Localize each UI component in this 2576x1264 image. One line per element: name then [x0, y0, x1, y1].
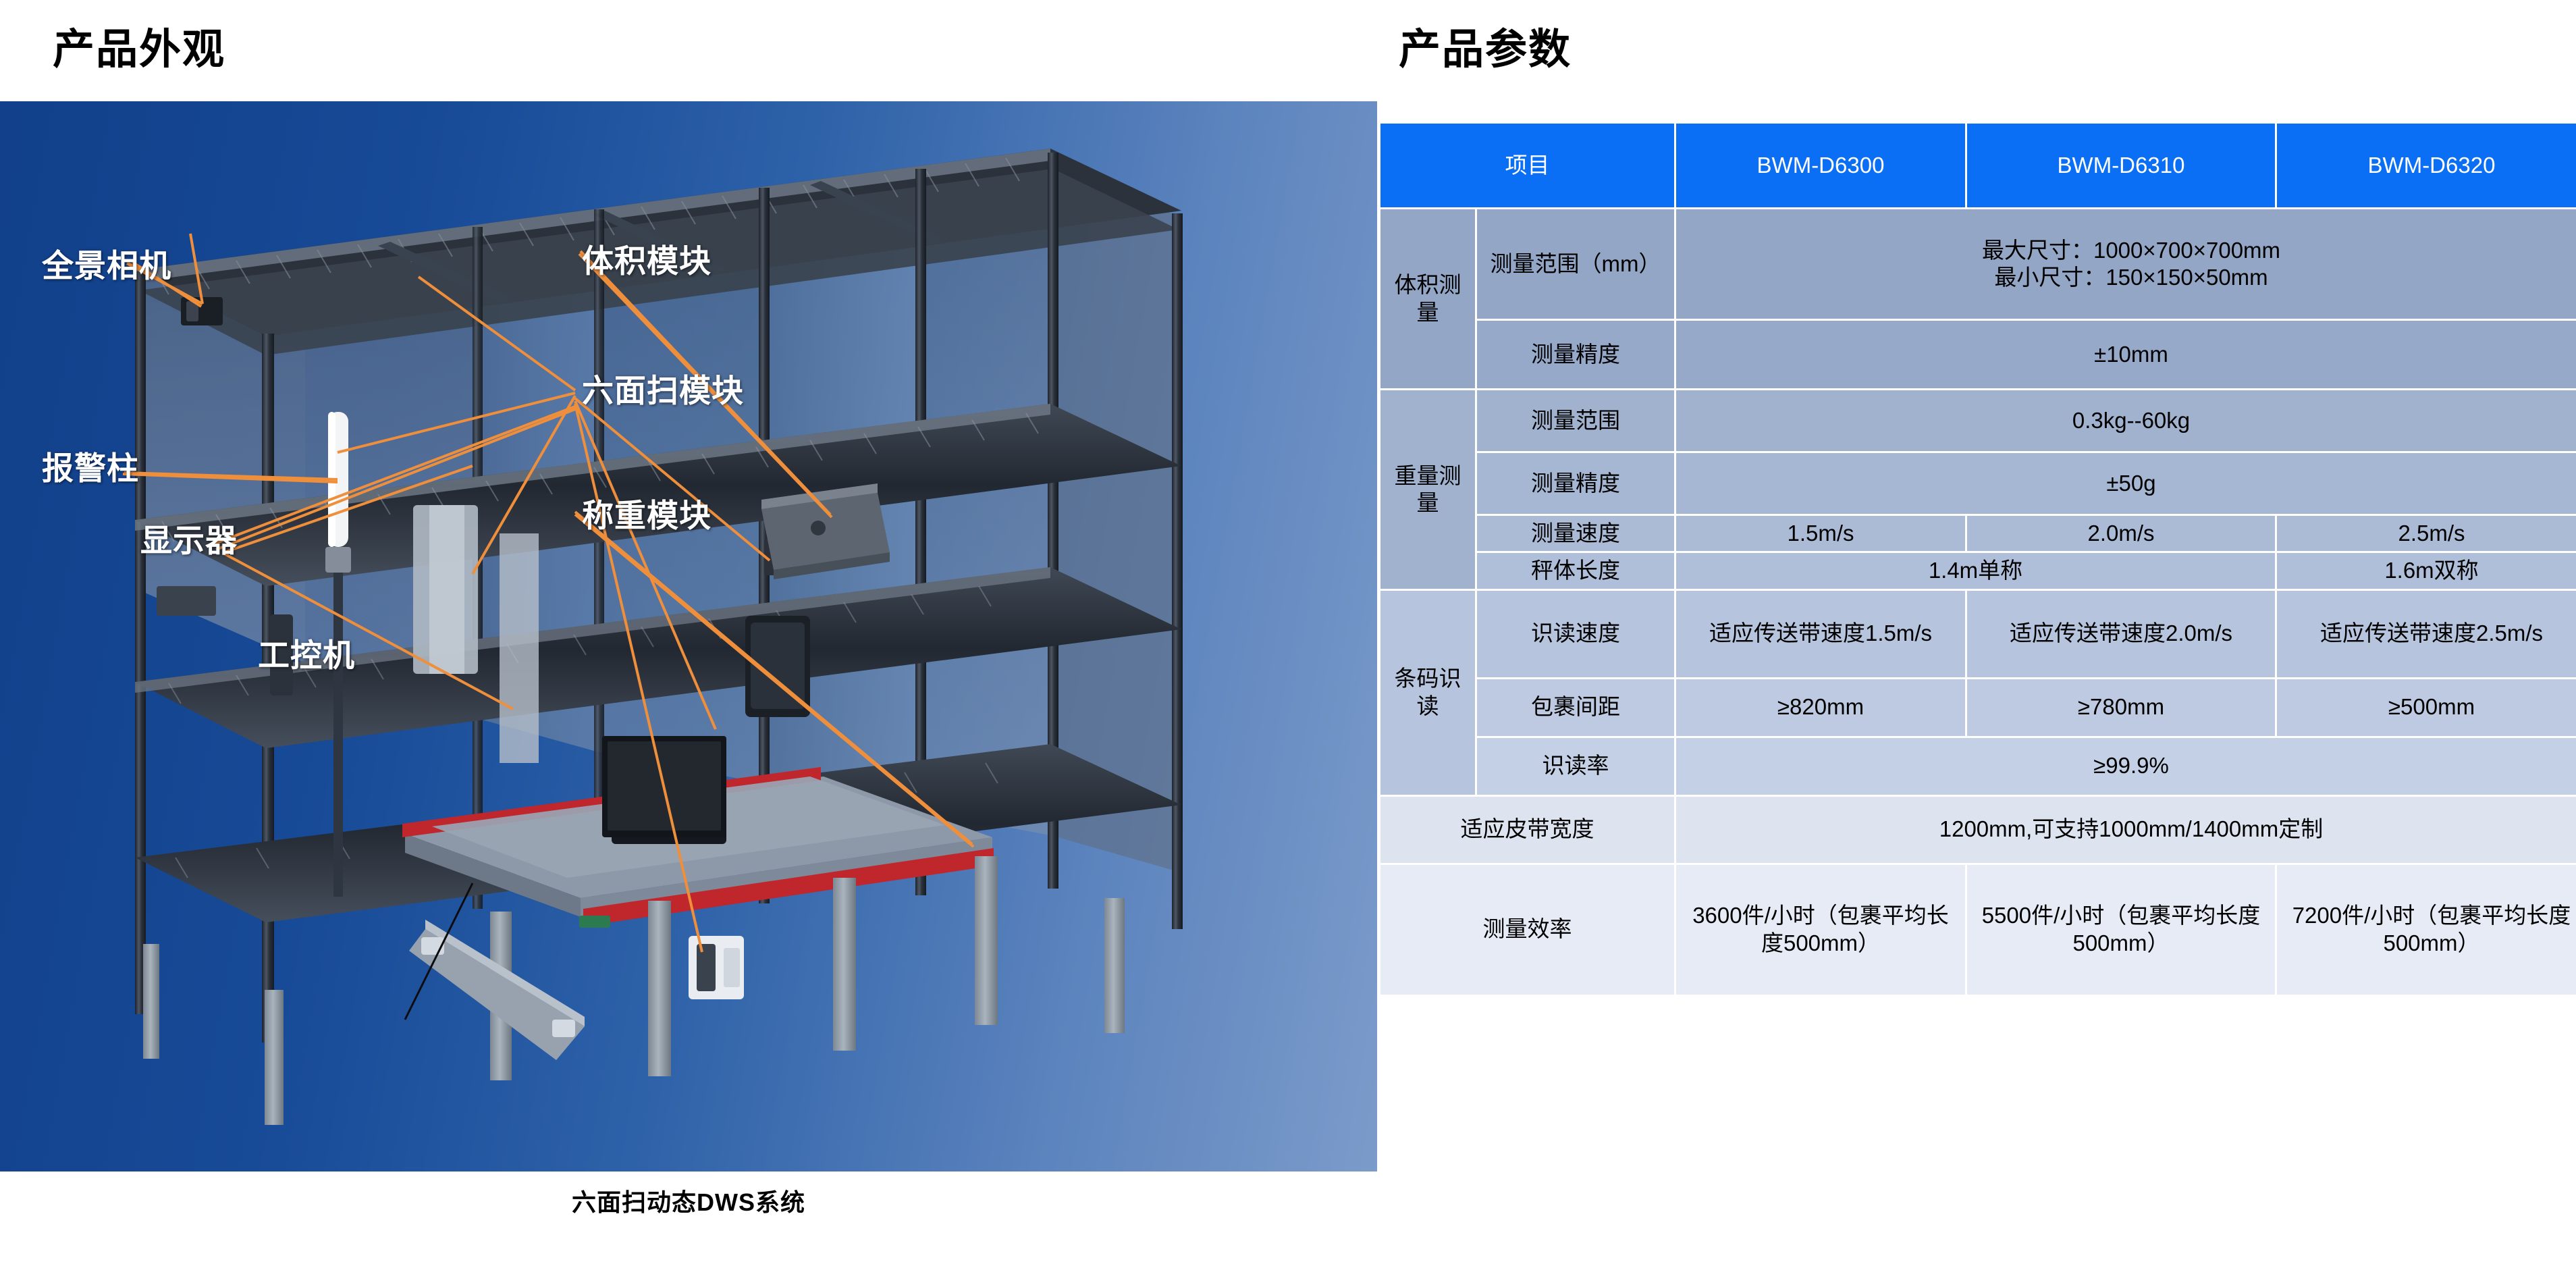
value-weight-speed-d6320: 2.5m/s	[2277, 516, 2576, 551]
product-appearance-panel: 全景相机 报警柱 显示器 工控机 体积模块 六面扫模块 称重模块	[0, 101, 1377, 1171]
value-parcel-gap-d6310: ≥780mm	[1967, 679, 2275, 736]
item-belt-width: 适应皮带宽度	[1380, 797, 1674, 863]
value-weight-accuracy: ±50g	[1676, 453, 2576, 514]
callout-alarm-pole: 报警柱	[42, 442, 139, 489]
callout-industrial-pc: 工控机	[258, 629, 355, 676]
value-weight-speed-d6310: 2.0m/s	[1967, 516, 2275, 551]
table-header-row: 项目 BWM-D6300 BWM-D6310 BWM-D6320	[1380, 124, 2576, 207]
callout-six-face-scan-module: 六面扫模块	[582, 365, 744, 411]
table-row: 条码识读 识读速度 适应传送带速度1.5m/s 适应传送带速度2.0m/s 适应…	[1380, 591, 2576, 677]
callout-weighing-module: 称重模块	[582, 490, 712, 536]
item-read-rate: 识读率	[1477, 738, 1674, 795]
callout-panoramic-camera: 全景相机	[42, 240, 171, 286]
page-title-product-parameters: 产品参数	[1399, 15, 1572, 76]
value-volume-range: 最大尺寸：1000×700×700mm 最小尺寸：150×150×50mm	[1676, 209, 2576, 319]
product-parameters-table: 项目 BWM-D6300 BWM-D6310 BWM-D6320 体积测量 测量…	[1378, 122, 2576, 997]
table-row: 测量精度 ±10mm	[1380, 321, 2576, 388]
value-belt-width: 1200mm,可支持1000mm/1400mm定制	[1676, 797, 2576, 863]
table-row: 秤体长度 1.4m单称 1.6m双称	[1380, 553, 2576, 588]
table-row: 测量精度 ±50g	[1380, 453, 2576, 514]
value-read-rate: ≥99.9%	[1676, 738, 2576, 795]
callout-volume-module: 体积模块	[582, 235, 712, 282]
value-parcel-gap-d6300: ≥820mm	[1676, 679, 1965, 736]
item-weight-speed: 测量速度	[1477, 516, 1674, 551]
pcb-board	[579, 916, 610, 928]
header-item: 项目	[1380, 124, 1674, 207]
header-bwm-d6320: BWM-D6320	[2277, 124, 2576, 207]
item-throughput: 测量效率	[1380, 865, 1674, 995]
table-row: 体积测量 测量范围（mm） 最大尺寸：1000×700×700mm 最小尺寸：1…	[1380, 209, 2576, 319]
table-row: 识读率 ≥99.9%	[1380, 738, 2576, 795]
value-read-speed-d6320: 适应传送带速度2.5m/s	[2277, 591, 2576, 677]
item-parcel-gap: 包裹间距	[1477, 679, 1674, 736]
value-scale-length-double: 1.6m双称	[2277, 553, 2576, 588]
item-read-speed: 识读速度	[1477, 591, 1674, 677]
value-weight-range: 0.3kg--60kg	[1676, 390, 2576, 451]
group-barcode-reading: 条码识读	[1380, 591, 1475, 795]
item-volume-range: 测量范围（mm）	[1477, 209, 1674, 319]
header-bwm-d6300: BWM-D6300	[1676, 124, 1965, 207]
figure-caption: 六面扫动态DWS系统	[0, 1183, 1377, 1218]
header-bwm-d6310: BWM-D6310	[1967, 124, 2275, 207]
item-scale-length: 秤体长度	[1477, 553, 1674, 588]
table-row: 包裹间距 ≥820mm ≥780mm ≥500mm	[1380, 679, 2576, 736]
value-read-speed-d6300: 适应传送带速度1.5m/s	[1676, 591, 1965, 677]
item-weight-accuracy: 测量精度	[1477, 453, 1674, 514]
bottom-barcode-scanner	[689, 936, 744, 999]
page-title-product-appearance: 产品外观	[53, 15, 225, 76]
value-throughput-d6320: 7200件/小时（包裹平均长度500mm）	[2277, 865, 2576, 995]
table-row: 测量效率 3600件/小时（包裹平均长度500mm） 5500件/小时（包裹平均…	[1380, 865, 2576, 995]
value-throughput-d6300: 3600件/小时（包裹平均长度500mm）	[1676, 865, 1965, 995]
table-row: 重量测量 测量范围 0.3kg--60kg	[1380, 390, 2576, 451]
value-parcel-gap-d6320: ≥500mm	[2277, 679, 2576, 736]
value-scale-length-single: 1.4m单称	[1676, 553, 2275, 588]
item-weight-range: 测量范围	[1477, 390, 1674, 451]
group-volume-measurement: 体积测量	[1380, 209, 1475, 388]
callout-display: 显示器	[140, 515, 238, 561]
value-weight-speed-d6300: 1.5m/s	[1676, 516, 1965, 551]
group-weight-measurement: 重量测量	[1380, 390, 1475, 589]
item-volume-accuracy: 测量精度	[1477, 321, 1674, 388]
value-throughput-d6310: 5500件/小时（包裹平均长度500mm）	[1967, 865, 2275, 995]
value-volume-accuracy: ±10mm	[1676, 321, 2576, 388]
table-row: 适应皮带宽度 1200mm,可支持1000mm/1400mm定制	[1380, 797, 2576, 863]
table-row: 测量速度 1.5m/s 2.0m/s 2.5m/s	[1380, 516, 2576, 551]
value-read-speed-d6310: 适应传送带速度2.0m/s	[1967, 591, 2275, 677]
